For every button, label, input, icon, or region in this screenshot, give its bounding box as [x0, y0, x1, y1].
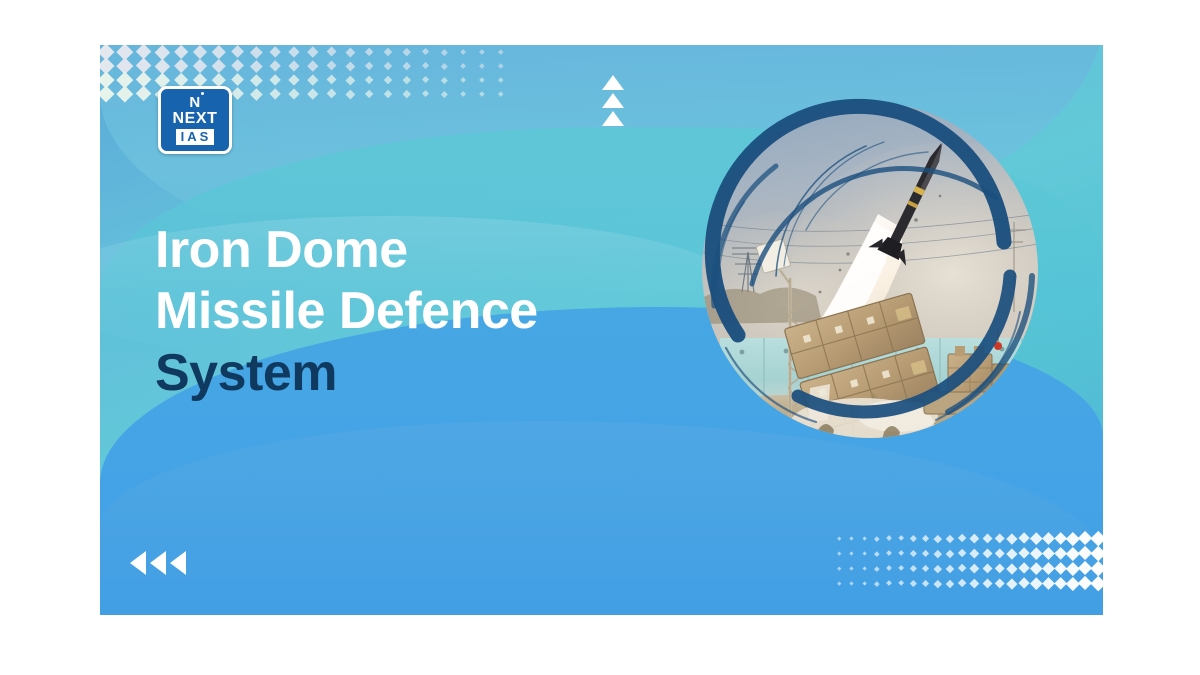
- halftone-diamond: [364, 62, 373, 71]
- halftone-diamond: [403, 62, 411, 70]
- halftone-diamond: [479, 91, 485, 97]
- halftone-diamond: [288, 88, 299, 99]
- halftone-diamond: [460, 49, 466, 55]
- title-line-1: Iron Dome: [155, 220, 675, 281]
- halftone-diamond: [212, 59, 226, 73]
- halftone-diamond: [307, 89, 318, 100]
- halftone-diamond: [288, 60, 299, 71]
- halftone-diamond: [958, 549, 967, 558]
- halftone-diamond: [100, 86, 114, 103]
- halftone-diamond: [422, 62, 429, 69]
- halftone-diamond: [1030, 547, 1042, 559]
- halftone-diamond: [441, 91, 448, 98]
- halftone-diamond: [498, 50, 503, 55]
- halftone-diamond: [910, 580, 917, 587]
- halftone-diamond: [1090, 561, 1103, 576]
- halftone-diamond: [479, 63, 485, 69]
- halftone-diamond: [155, 45, 170, 60]
- page-title: Iron Dome Missile Defence System: [155, 220, 675, 404]
- title-line-2: Missile Defence: [155, 281, 675, 342]
- halftone-diamond: [422, 76, 429, 83]
- halftone-diamond: [441, 77, 448, 84]
- halftone-diamond: [384, 90, 392, 98]
- halftone-diamond: [922, 550, 929, 557]
- halftone-diamond: [910, 565, 917, 572]
- halftone-diamond: [850, 536, 854, 540]
- halftone-diamond: [364, 76, 373, 85]
- halftone-diamond: [934, 565, 942, 573]
- halftone-row: [100, 45, 530, 59]
- halftone-diamond: [946, 564, 954, 572]
- halftone-diamond: [193, 73, 207, 87]
- halftone-diamond: [231, 88, 244, 101]
- halftone-diamond: [269, 88, 281, 100]
- halftone-diamond: [946, 579, 954, 587]
- halftone-diamond: [982, 564, 992, 574]
- halftone-diamond: [934, 535, 942, 543]
- halftone-diamond: [910, 535, 917, 542]
- halftone-diamond: [862, 581, 867, 586]
- halftone-diamond: [970, 564, 979, 573]
- halftone-diamond: [982, 579, 992, 589]
- halftone-diamond: [970, 534, 979, 543]
- halftone-diamond: [1006, 548, 1017, 559]
- halftone-diamond: [498, 78, 503, 83]
- halftone-diamond: [288, 46, 299, 57]
- halftone-diamond: [250, 46, 262, 58]
- halftone-diamond: [886, 581, 892, 587]
- halftone-diamond: [498, 64, 503, 69]
- halftone-diamond: [250, 60, 262, 72]
- halftone-diamond: [460, 91, 466, 97]
- triangle-left-icon: [150, 551, 166, 575]
- halftone-pattern-bottom-right: [813, 531, 1103, 593]
- halftone-diamond: [838, 537, 842, 541]
- halftone-diamond: [1018, 563, 1030, 575]
- logo-next-text: NEXT: [172, 111, 217, 127]
- halftone-row: [813, 576, 1103, 591]
- triangle-up-icon: [602, 75, 624, 90]
- halftone-diamond: [345, 89, 355, 99]
- hero-photo: [702, 102, 1038, 438]
- halftone-diamond: [364, 48, 373, 57]
- halftone-diamond: [212, 45, 226, 59]
- halftone-diamond: [422, 90, 429, 97]
- halftone-diamond: [994, 563, 1005, 574]
- triangle-left-icon: [130, 551, 146, 575]
- halftone-diamond: [922, 565, 929, 572]
- halftone-diamond: [1090, 546, 1103, 561]
- halftone-diamond: [479, 49, 485, 55]
- halftone-diamond: [994, 548, 1005, 559]
- halftone-diamond: [326, 89, 336, 99]
- halftone-diamond: [886, 551, 892, 557]
- halftone-diamond: [174, 59, 189, 74]
- halftone-diamond: [910, 550, 917, 557]
- halftone-diamond: [862, 536, 867, 541]
- triangle-up-icon: [602, 93, 624, 108]
- halftone-diamond: [898, 550, 904, 556]
- halftone-diamond: [364, 90, 373, 99]
- halftone-diamond: [958, 534, 967, 543]
- halftone-diamond: [307, 75, 318, 86]
- halftone-diamond: [970, 549, 979, 558]
- halftone-diamond: [250, 88, 262, 100]
- logo-n-mark: N: [189, 95, 200, 110]
- halftone-diamond: [250, 74, 262, 86]
- halftone-diamond: [982, 549, 992, 559]
- halftone-diamond: [441, 49, 448, 56]
- halftone-diamond: [1018, 533, 1030, 545]
- halftone-diamond: [1006, 578, 1017, 589]
- halftone-diamond: [403, 48, 411, 56]
- halftone-diamond: [850, 551, 854, 555]
- halftone-diamond: [898, 580, 904, 586]
- halftone-diamond: [345, 75, 355, 85]
- halftone-diamond: [117, 86, 133, 102]
- halftone-row: [813, 561, 1103, 576]
- halftone-diamond: [269, 46, 281, 58]
- halftone-diamond: [958, 564, 967, 573]
- halftone-diamond: [994, 578, 1005, 589]
- halftone-diamond: [994, 533, 1005, 544]
- halftone-diamond: [441, 63, 448, 70]
- halftone-diamond: [155, 58, 170, 73]
- halftone-diamond: [307, 47, 318, 58]
- halftone-diamond: [403, 90, 411, 98]
- halftone-diamond: [874, 566, 879, 571]
- halftone-diamond: [1030, 562, 1042, 574]
- halftone-diamond: [326, 47, 336, 57]
- halftone-diamond: [384, 76, 392, 84]
- halftone-diamond: [460, 63, 466, 69]
- halftone-diamond: [838, 567, 842, 571]
- halftone-diamond: [269, 74, 281, 86]
- halftone-diamond: [307, 61, 318, 72]
- halftone-diamond: [1018, 548, 1030, 560]
- triangle-left-group: [130, 551, 186, 575]
- halftone-diamond: [231, 60, 244, 73]
- halftone-diamond: [384, 48, 392, 56]
- halftone-diamond: [212, 73, 226, 87]
- halftone-diamond: [460, 77, 466, 83]
- halftone-diamond: [1018, 578, 1030, 590]
- halftone-diamond: [231, 46, 244, 59]
- halftone-diamond: [1090, 531, 1103, 546]
- halftone-diamond: [345, 47, 355, 57]
- halftone-diamond: [898, 535, 904, 541]
- halftone-diamond: [946, 534, 954, 542]
- halftone-diamond: [479, 77, 485, 83]
- halftone-diamond: [1090, 576, 1103, 591]
- triangle-up-group: [602, 75, 624, 126]
- halftone-diamond: [958, 579, 967, 588]
- halftone-diamond: [174, 45, 189, 59]
- halftone-diamond: [886, 536, 892, 542]
- title-line-3: System: [155, 343, 675, 404]
- halftone-diamond: [1030, 577, 1042, 589]
- nextias-logo[interactable]: N NEXT IAS: [158, 86, 232, 154]
- logo-ias-text: IAS: [176, 129, 215, 145]
- halftone-diamond: [1030, 532, 1042, 544]
- halftone-row: [813, 546, 1103, 561]
- halftone-diamond: [838, 552, 842, 556]
- halftone-diamond: [269, 60, 281, 72]
- halftone-diamond: [898, 565, 904, 571]
- halftone-diamond: [498, 92, 503, 97]
- halftone-diamond: [345, 61, 355, 71]
- halftone-diamond: [136, 86, 152, 102]
- halftone-diamond: [850, 581, 854, 585]
- halftone-diamond: [193, 45, 207, 59]
- halftone-diamond: [326, 75, 336, 85]
- halftone-diamond: [403, 76, 411, 84]
- triangle-up-icon: [602, 111, 624, 126]
- hero-image-container: [680, 80, 1060, 460]
- halftone-diamond: [850, 566, 854, 570]
- halftone-diamond: [231, 74, 244, 87]
- halftone-diamond: [1006, 533, 1017, 544]
- halftone-diamond: [838, 582, 842, 586]
- halftone-row: [100, 73, 530, 87]
- halftone-diamond: [886, 566, 892, 572]
- halftone-diamond: [874, 581, 879, 586]
- halftone-diamond: [874, 536, 879, 541]
- halftone-diamond: [946, 549, 954, 557]
- halftone-diamond: [970, 579, 979, 588]
- halftone-diamond: [862, 566, 867, 571]
- halftone-row: [813, 531, 1103, 546]
- halftone-diamond: [326, 61, 336, 71]
- halftone-diamond: [934, 580, 942, 588]
- halftone-row: [100, 59, 530, 73]
- triangle-left-icon: [170, 551, 186, 575]
- halftone-diamond: [384, 62, 392, 70]
- halftone-diamond: [874, 551, 879, 556]
- iron-dome-photo-illustration: [702, 102, 1038, 438]
- halftone-diamond: [422, 48, 429, 55]
- halftone-diamond: [934, 550, 942, 558]
- banner-panel: N NEXT IAS Iron Dome Missile Defence Sys…: [100, 45, 1103, 615]
- halftone-diamond: [193, 59, 207, 73]
- halftone-diamond: [288, 74, 299, 85]
- halftone-diamond: [982, 534, 992, 544]
- halftone-diamond: [1006, 563, 1017, 574]
- halftone-diamond: [922, 535, 929, 542]
- halftone-diamond: [922, 580, 929, 587]
- halftone-diamond: [862, 551, 867, 556]
